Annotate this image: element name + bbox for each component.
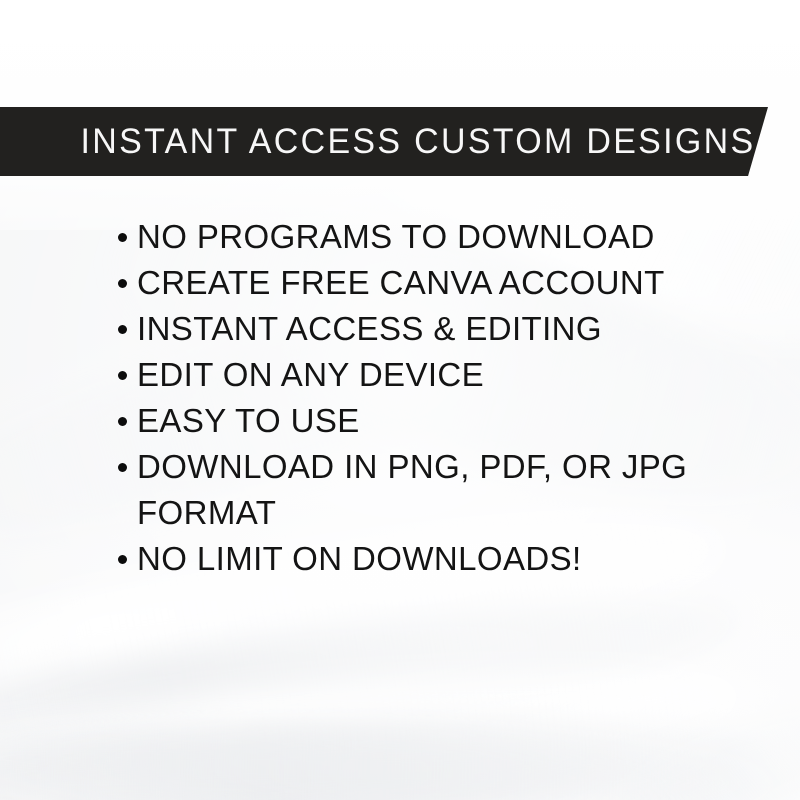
light-ray-b <box>0 561 749 800</box>
list-item: EASY TO USE <box>114 398 714 444</box>
list-item: DOWNLOAD IN PNG, PDF, OR JPG FORMAT <box>114 444 714 536</box>
light-ray-c <box>0 640 746 800</box>
list-item: NO PROGRAMS TO DOWNLOAD <box>114 214 714 260</box>
light-ray-i <box>446 717 800 800</box>
banner-title: INSTANT ACCESS CUSTOM DESIGNS <box>0 122 755 162</box>
list-item: EDIT ON ANY DEVICE <box>114 352 714 398</box>
feature-list: NO PROGRAMS TO DOWNLOAD CREATE FREE CANV… <box>114 214 714 582</box>
light-ray-h <box>351 628 800 800</box>
light-ray-j <box>0 714 781 800</box>
list-item: CREATE FREE CANVA ACCOUNT <box>114 260 714 306</box>
light-ray-d <box>0 700 762 800</box>
list-item: INSTANT ACCESS & EDITING <box>114 306 714 352</box>
promo-graphic-canvas: INSTANT ACCESS CUSTOM DESIGNS NO PROGRAM… <box>0 0 800 800</box>
list-item: NO LIMIT ON DOWNLOADS! <box>114 536 714 582</box>
headline-banner: INSTANT ACCESS CUSTOM DESIGNS <box>0 107 768 176</box>
